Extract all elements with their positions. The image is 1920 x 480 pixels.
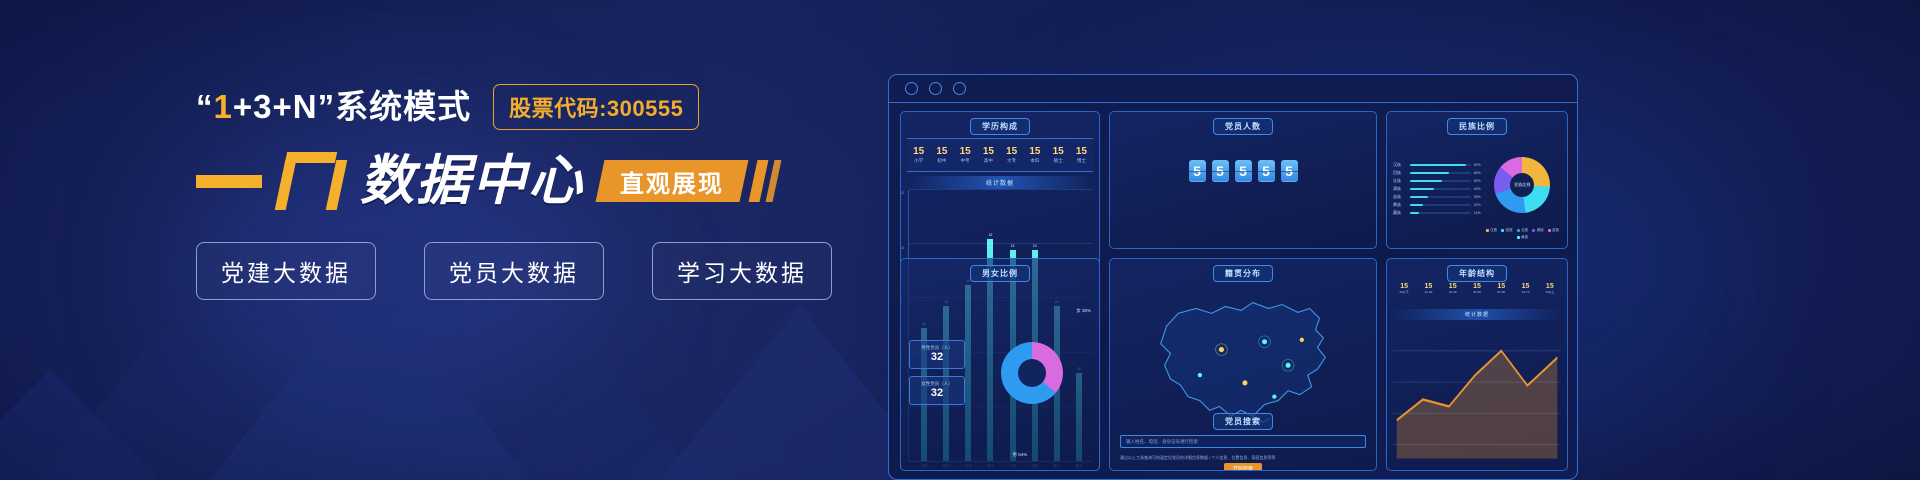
ethnicity-row: 汉族92%	[1393, 162, 1484, 168]
china-map-svg	[1110, 281, 1376, 428]
education-stat-label: 高中	[984, 158, 993, 164]
gender-donut-wrap: 女 36% 男 64%	[972, 283, 1091, 462]
ethnicity-legend: 汉族 回族 壮族 满族 苗族 彝族	[1484, 228, 1561, 240]
education-stat: 15初中	[930, 139, 953, 171]
card-gender-ratio-title: 男女比例	[970, 265, 1030, 282]
education-stat-value: 15	[936, 146, 947, 157]
ethnicity-donut-center: 民族比例	[1514, 182, 1530, 188]
gender-male-tag: 男 64%	[1012, 452, 1027, 458]
hero-line-one: “1+3+N”系统模式 股票代码:300555	[196, 84, 836, 130]
age-area-svg	[1393, 323, 1561, 462]
count-digit: 5	[1212, 160, 1229, 182]
age-stat: 1551-60	[1489, 283, 1513, 307]
age-area-chart	[1393, 323, 1561, 462]
education-stat-value: 15	[983, 146, 994, 157]
gender-stat-female: 女性党员（人） 32	[909, 376, 965, 405]
count-digit: 5	[1235, 160, 1252, 182]
education-stat-value: 15	[1076, 146, 1087, 157]
hero-ribbon: 直观展现	[600, 160, 777, 202]
gender-donut-chart	[1001, 342, 1063, 404]
education-stat-label: 硕士	[1054, 158, 1063, 164]
legend-item: 汉族	[1486, 228, 1498, 233]
education-stat: 15大专	[1000, 139, 1023, 171]
legend-item: 回族	[1501, 228, 1513, 233]
education-stat: 15本科	[1023, 139, 1046, 171]
education-stat: 15高中	[977, 139, 1000, 171]
education-chart-title: 统计数据	[908, 176, 1092, 189]
age-chart-title: 统计数据	[1393, 309, 1561, 320]
education-stat-value: 15	[960, 146, 971, 157]
title-ge-glyph	[278, 152, 344, 210]
legend-item: 壮族	[1517, 228, 1529, 233]
dashboard-grid: 学历构成 15小学 15初中 15中专 15高中 15大专 15本科 15硕士 …	[900, 111, 1566, 471]
member-search-title: 党员搜索	[1213, 413, 1273, 430]
ethnicity-donut-wrap: 民族比例 汉族 回族 壮族 满族 苗族 彝族	[1484, 136, 1561, 242]
hero-kicker-prefix: “	[196, 88, 214, 125]
dashboard-mockup: 学历构成 15小学 15初中 15中专 15高中 15大专 15本科 15硕士 …	[888, 74, 1578, 480]
education-stat-label: 初中	[937, 158, 946, 164]
ethnicity-row: 苗族30%	[1393, 194, 1484, 200]
hero-title: 数据中心	[360, 152, 584, 210]
education-stat-label: 中专	[961, 158, 970, 164]
ethnicity-donut-chart: 民族比例	[1494, 157, 1550, 213]
education-stat-value: 15	[1029, 146, 1040, 157]
card-age-structure-title: 年龄结构	[1447, 265, 1507, 282]
age-stat: 1520以下	[1392, 283, 1416, 307]
gender-male-value: 32	[912, 351, 962, 364]
hero-line-two: 数据中心 直观展现	[196, 150, 836, 212]
pill-party-member[interactable]: 党员大数据	[424, 242, 604, 300]
education-stat-value: 15	[913, 146, 924, 157]
card-member-count[interactable]: 党员人数 5 5 5 5 5	[1109, 111, 1377, 249]
age-stat: 1541-50	[1465, 283, 1489, 307]
age-stat: 1521-30	[1416, 283, 1440, 307]
start-search-button[interactable]: 开始检索	[1224, 463, 1262, 471]
window-dot-icon[interactable]	[905, 82, 918, 95]
china-map[interactable]	[1110, 281, 1376, 428]
education-stat-value: 15	[1053, 146, 1064, 157]
education-stat-row: 15小学 15初中 15中专 15高中 15大专 15本科 15硕士 15博士	[907, 138, 1093, 172]
ethnicity-bar-list: 汉族92% 回族64% 壮族52% 满族40% 苗族30% 彝族22% 藏族14…	[1393, 136, 1484, 242]
title-dash-mark	[196, 175, 262, 188]
gender-female-value: 32	[912, 387, 962, 400]
education-stat: 15小学	[907, 139, 930, 171]
hero-copy: “1+3+N”系统模式 股票代码:300555 数据中心 直观展现 党建大数据 …	[196, 84, 836, 300]
browser-window: 学历构成 15小学 15初中 15中专 15高中 15大专 15本科 15硕士 …	[888, 74, 1578, 480]
gender-stat-boxes: 男性党员（人） 32 女性党员（人） 32	[909, 283, 965, 462]
member-search-input[interactable]: 输入姓名、电话、身份证号进行检索	[1120, 435, 1366, 448]
banner-stage: “1+3+N”系统模式 股票代码:300555 数据中心 直观展现 党建大数据 …	[0, 0, 1920, 480]
hero-pill-group: 党建大数据 党员大数据 学习大数据	[196, 242, 836, 300]
count-digit: 5	[1189, 160, 1206, 182]
pill-party-building[interactable]: 党建大数据	[196, 242, 376, 300]
ethnicity-row: 壮族52%	[1393, 178, 1484, 184]
window-dot-icon[interactable]	[953, 82, 966, 95]
pill-study[interactable]: 学习大数据	[652, 242, 832, 300]
age-stat-row: 1520以下 1521-30 1531-40 1541-50 1551-60 1…	[1392, 283, 1562, 307]
legend-item: 满族	[1532, 228, 1544, 233]
card-education-title: 学历构成	[970, 118, 1030, 135]
browser-titlebar	[889, 75, 1577, 103]
hero-kicker-one: 1	[214, 88, 233, 125]
education-stat: 15博士	[1070, 139, 1093, 171]
member-count-digits: 5 5 5 5 5	[1110, 160, 1376, 182]
member-search-placeholder: 输入姓名、电话、身份证号进行检索	[1126, 439, 1198, 445]
gender-body: 男性党员（人） 32 女性党员（人） 32 女 36% 男 64%	[909, 283, 1091, 462]
stock-code-badge: 股票代码:300555	[493, 84, 699, 130]
gender-female-tag: 女 36%	[1076, 308, 1091, 314]
education-stat-label: 本科	[1030, 158, 1039, 164]
hero-ribbon-label: 直观展现	[620, 164, 724, 199]
ribbon-slash-icon	[749, 160, 769, 202]
ethnicity-row: 满族40%	[1393, 186, 1484, 192]
count-digit: 5	[1258, 160, 1275, 182]
ethnicity-body: 汉族92% 回族64% 壮族52% 满族40% 苗族30% 彝族22% 藏族14…	[1393, 136, 1561, 242]
education-stat-label: 大专	[1007, 158, 1016, 164]
education-stat-label: 小学	[914, 158, 923, 164]
education-stat: 15中专	[954, 139, 977, 171]
window-dot-icon[interactable]	[929, 82, 942, 95]
card-gender-ratio[interactable]: 男女比例 男性党员（人） 32 女性党员（人） 32	[900, 258, 1100, 471]
education-stat: 15硕士	[1047, 139, 1070, 171]
card-ethnicity[interactable]: 民族比例 汉族92% 回族64% 壮族52% 满族40% 苗族30% 彝族22%…	[1386, 111, 1568, 249]
hero-kicker-rest: +3+N”系统模式	[233, 88, 471, 125]
legend-item: 彝族	[1517, 235, 1529, 240]
age-stat: 1531-40	[1441, 283, 1465, 307]
card-ethnicity-title: 民族比例	[1447, 118, 1507, 135]
hero-kicker: “1+3+N”系统模式	[196, 84, 471, 130]
ethnicity-row: 回族64%	[1393, 170, 1484, 176]
member-search-hint: 通过以上工具查询可快速定位党员的详细信息数据 / 个人信息、位置信息、家庭信息等…	[1120, 455, 1366, 461]
gender-stat-male: 男性党员（人） 32	[909, 340, 965, 369]
card-member-count-title: 党员人数	[1213, 118, 1273, 135]
card-age-structure[interactable]: 年龄结构 1520以下 1521-30 1531-40 1541-50 1551…	[1386, 258, 1568, 471]
card-hometown-map[interactable]: 籍贯分布	[1109, 258, 1377, 471]
education-stat-value: 15	[1006, 146, 1017, 157]
education-stat-label: 博士	[1077, 158, 1086, 164]
card-hometown-map-title: 籍贯分布	[1213, 265, 1273, 282]
age-stat: 1570以上	[1538, 283, 1562, 307]
ethnicity-row: 彝族22%	[1393, 202, 1484, 208]
count-digit: 5	[1281, 160, 1298, 182]
ethnicity-row: 藏族14%	[1393, 210, 1484, 216]
legend-item: 苗族	[1548, 228, 1560, 233]
ribbon-slash-icon	[766, 160, 782, 202]
age-stat: 1561-70	[1513, 283, 1537, 307]
